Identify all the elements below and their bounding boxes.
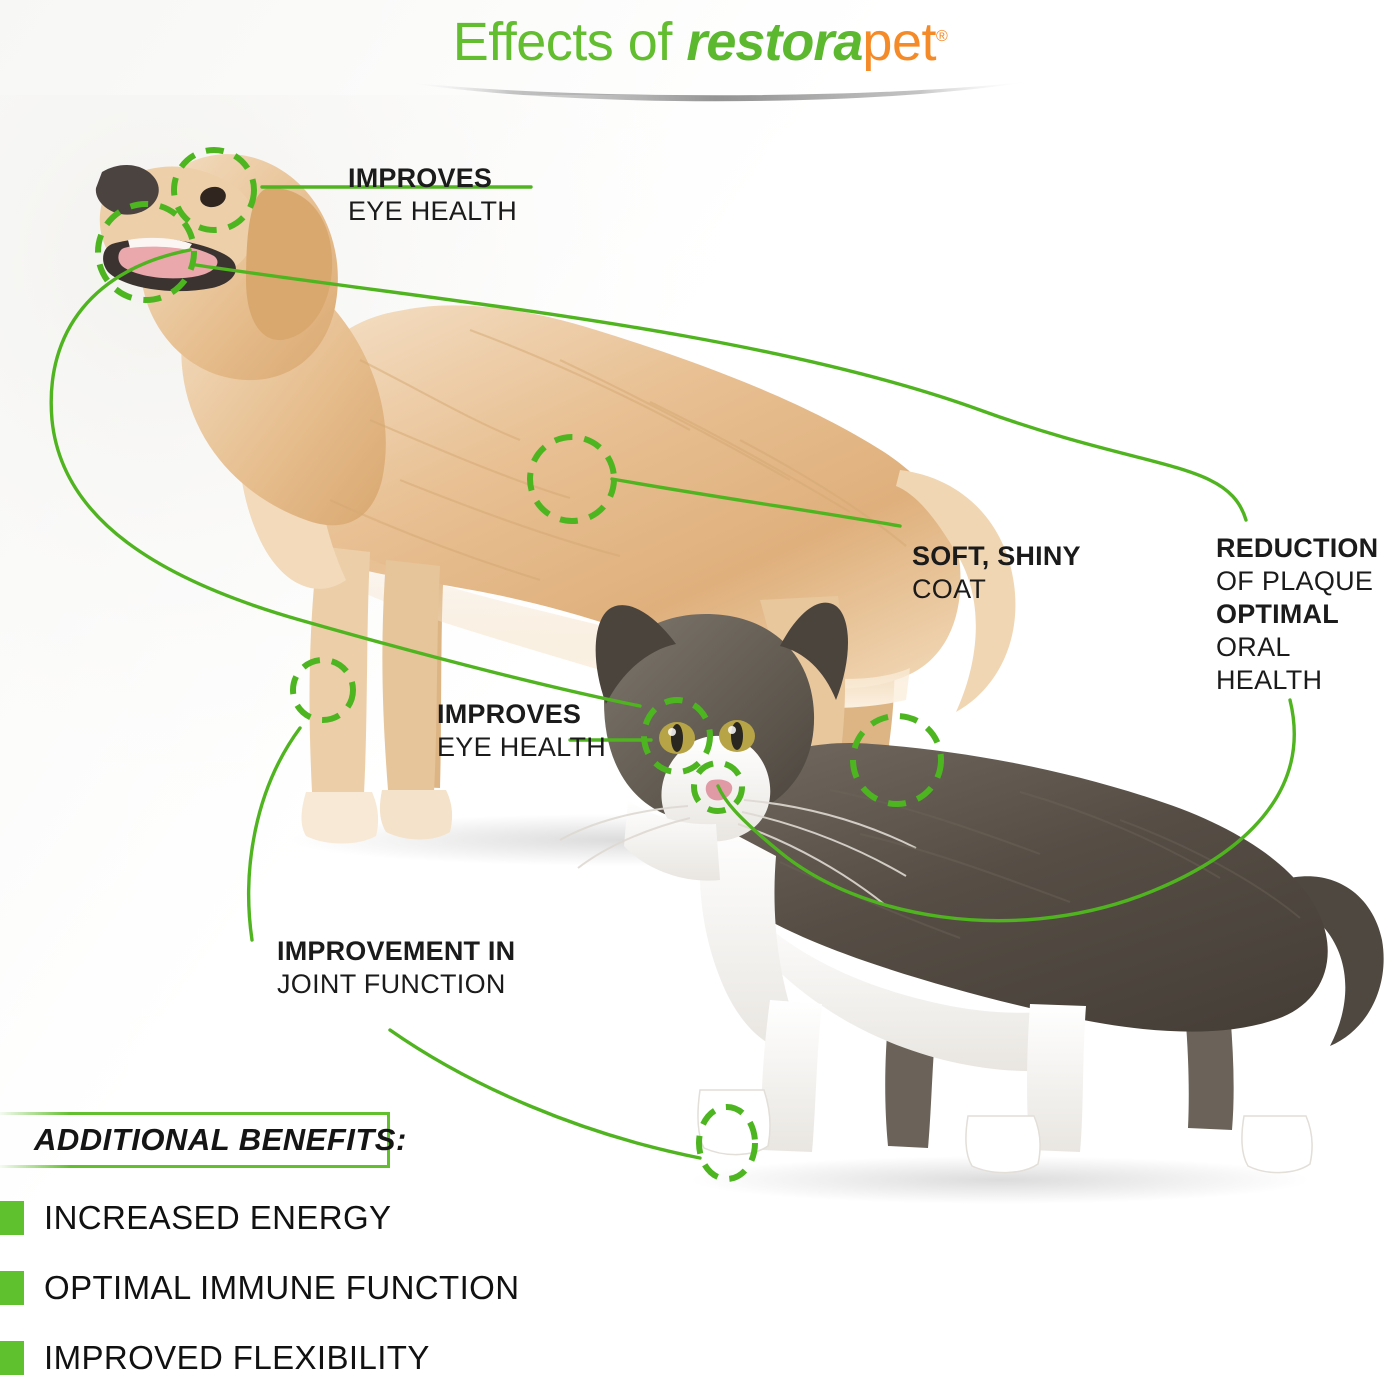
cat-near-hind-paw: [698, 1090, 770, 1155]
benefit-label-2: IMPROVED FLEXIBILITY: [44, 1339, 430, 1377]
cat-left-eye-highlight: [668, 728, 676, 736]
callout-joint-light: JOINT FUNCTION: [277, 968, 515, 1001]
bullet-square-icon: [0, 1201, 24, 1235]
benefit-item-2: IMPROVED FLEXIBILITY: [0, 1338, 430, 1378]
callout-dog-eye-light: EYE HEALTH: [348, 195, 517, 228]
dog-second-front-paw: [380, 790, 452, 840]
animal-illustration-group: [0, 0, 1400, 1400]
callout-coat: SOFT, SHINY COAT: [912, 540, 1081, 606]
callout-cat-eye-light: EYE HEALTH: [437, 731, 606, 764]
callout-coat-strong: SOFT, SHINY: [912, 540, 1081, 573]
callout-coat-light: COAT: [912, 573, 1081, 606]
callout-oral-light-1: OF PLAQUE: [1216, 565, 1400, 598]
callout-oral-health: REDUCTION OF PLAQUE OPTIMAL ORAL HEALTH: [1216, 532, 1400, 697]
callout-dog-eye: IMPROVES EYE HEALTH: [348, 162, 517, 228]
callout-cat-eye: IMPROVES EYE HEALTH: [437, 698, 606, 764]
bullet-square-icon: [0, 1271, 24, 1305]
benefit-item-1: OPTIMAL IMMUNE FUNCTION: [0, 1268, 519, 1308]
callout-oral-light-2: ORAL HEALTH: [1216, 631, 1400, 697]
infographic-canvas: Effects of restorapet®: [0, 0, 1400, 1400]
dog-near-front-paw: [302, 792, 379, 844]
benefit-label-0: INCREASED ENERGY: [44, 1199, 391, 1237]
additional-benefits-heading: ADDITIONAL BENEFITS:: [34, 1122, 407, 1158]
benefit-item-0: INCREASED ENERGY: [0, 1198, 391, 1238]
callout-cat-eye-strong: IMPROVES: [437, 698, 606, 731]
callout-joint-strong: IMPROVEMENT IN: [277, 935, 515, 968]
cat-right-eye-highlight: [728, 726, 736, 734]
benefit-label-1: OPTIMAL IMMUNE FUNCTION: [44, 1269, 519, 1307]
cat-far-fore-paw: [1242, 1116, 1312, 1173]
callout-joint-function: IMPROVEMENT IN JOINT FUNCTION: [277, 935, 515, 1001]
callout-oral-strong-1: REDUCTION: [1216, 532, 1400, 565]
callout-dog-eye-strong: IMPROVES: [348, 162, 517, 195]
cat-near-fore-paw: [966, 1116, 1040, 1173]
dog-second-front-leg: [382, 560, 440, 792]
bullet-square-icon: [0, 1341, 24, 1375]
callout-oral-strong-2: OPTIMAL: [1216, 598, 1400, 631]
